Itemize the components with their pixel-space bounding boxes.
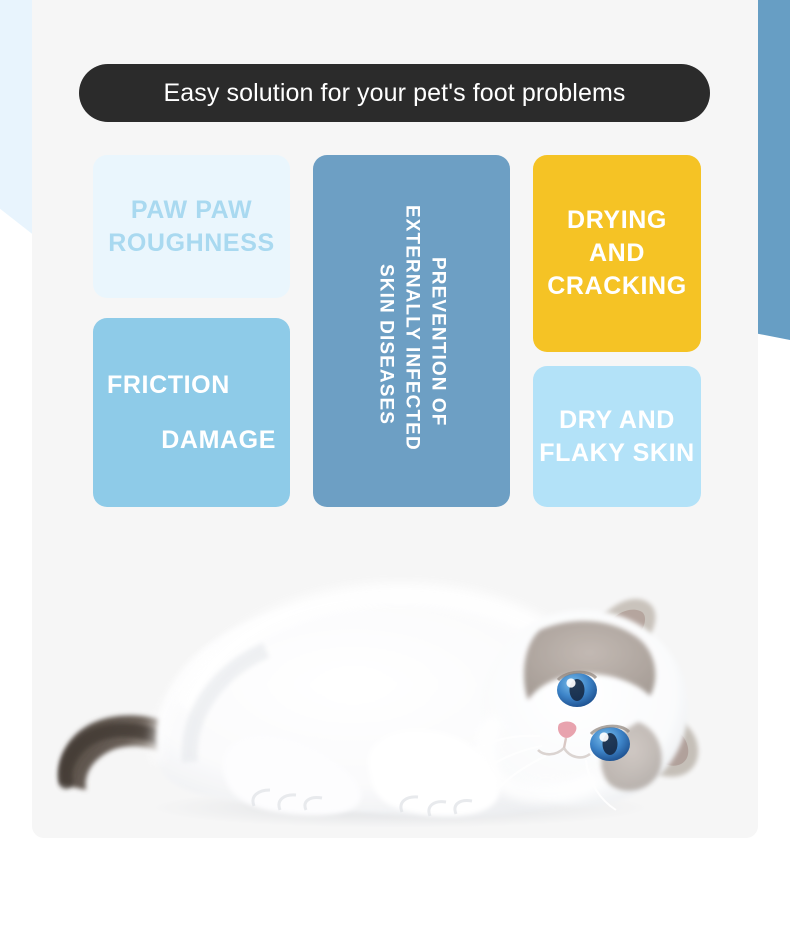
tile-line: CRACKING xyxy=(547,270,687,303)
tile-line: PAW PAW xyxy=(131,194,252,227)
tile-line: FRICTION xyxy=(107,369,230,402)
tile-drying-and-cracking: DRYING AND CRACKING xyxy=(533,155,701,352)
tile-vertical-line: SKIN DISEASES xyxy=(375,264,397,425)
tile-vertical-line: EXTERNALLY INFECTED xyxy=(401,205,423,451)
cat-illustration xyxy=(40,512,750,838)
tile-dry-and-flaky-skin: DRY AND FLAKY SKIN xyxy=(533,366,701,507)
tile-line: FLAKY SKIN xyxy=(539,437,695,470)
promo-card: Easy solution for your pet's foot proble… xyxy=(32,0,758,838)
tile-line: AND xyxy=(589,237,645,270)
tile-line: ROUGHNESS xyxy=(108,227,275,260)
tile-line: DAMAGE xyxy=(161,424,276,457)
headline-pill: Easy solution for your pet's foot proble… xyxy=(79,64,710,122)
page-root: Easy solution for your pet's foot proble… xyxy=(0,0,790,945)
tile-friction-damage: FRICTION DAMAGE xyxy=(93,318,290,507)
tile-prevention-skin-diseases: PREVENTION OF EXTERNALLY INFECTED SKIN D… xyxy=(313,155,510,507)
tile-vertical-line: PREVENTION OF xyxy=(427,257,449,426)
cat-photo xyxy=(40,512,750,838)
headline-text: Easy solution for your pet's foot proble… xyxy=(164,79,626,108)
tile-line: DRYING xyxy=(567,204,667,237)
tile-paw-paw-roughness: PAW PAW ROUGHNESS xyxy=(93,155,290,298)
tile-line: DRY AND xyxy=(559,404,675,437)
